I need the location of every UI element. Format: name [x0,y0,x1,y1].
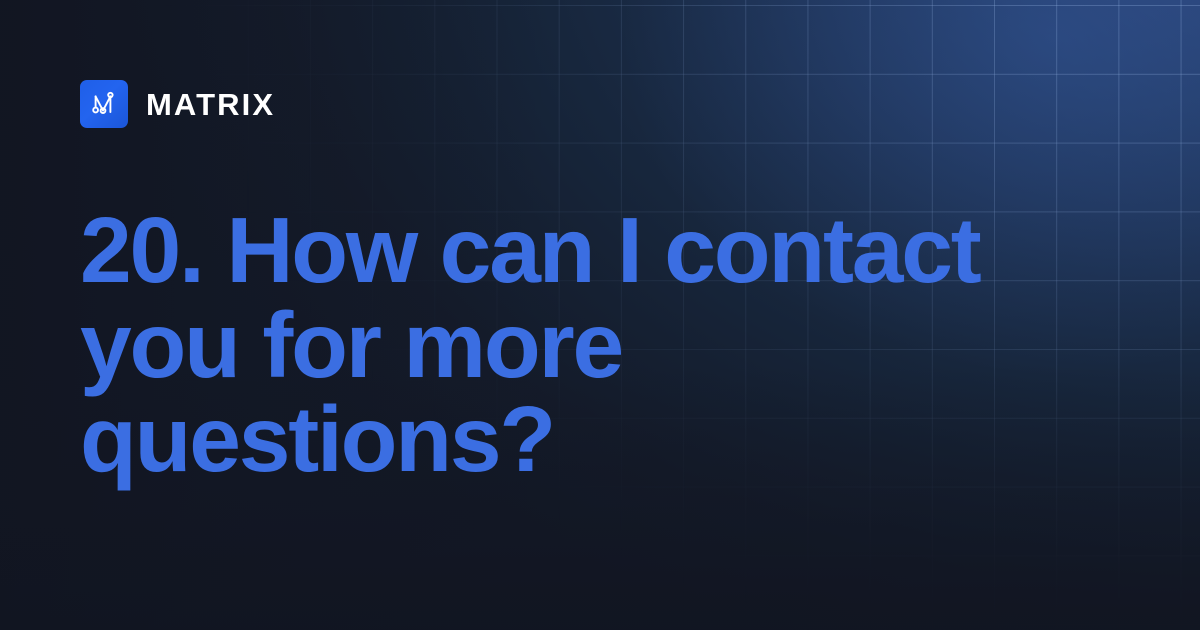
brand-lockup[interactable]: MATRIX [80,80,1120,128]
matrix-graph-node-icon [80,80,128,128]
brand-name: MATRIX [146,89,275,120]
headline-region: 20. How can I contact you for more quest… [80,140,1120,550]
page-title: 20. How can I contact you for more quest… [80,203,1080,488]
faq-social-card: MATRIX 20. How can I contact you for mor… [0,0,1200,630]
card-content: MATRIX 20. How can I contact you for mor… [0,0,1200,630]
